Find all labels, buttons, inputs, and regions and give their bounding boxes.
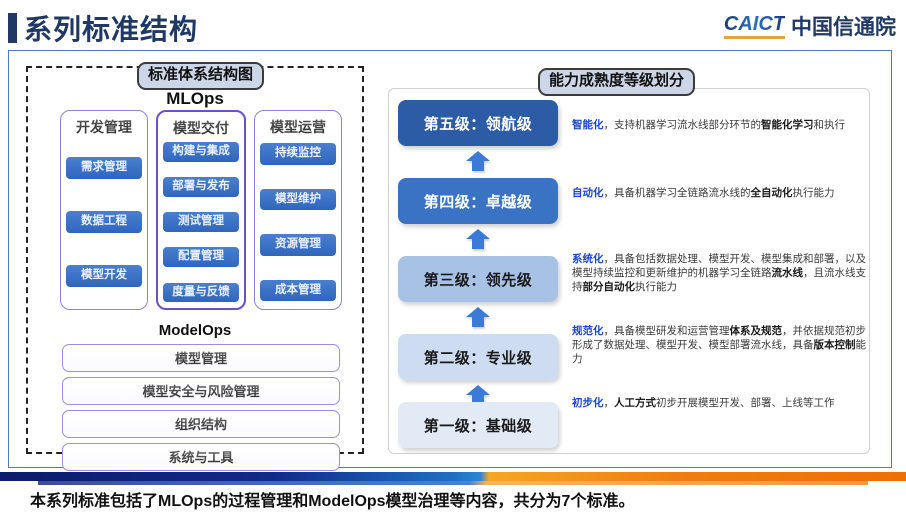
desc-text: ，具备模型研发和运营管理 <box>604 325 730 337</box>
title-accent-bar <box>8 13 17 43</box>
desc-keyword: 初步化 <box>572 397 604 409</box>
desc-text: 执行能力 <box>635 281 677 293</box>
mlops-chip[interactable]: 部署与发布 <box>163 177 239 197</box>
maturity-level-box-5[interactable]: 第五级：领航级 <box>398 100 558 146</box>
maturity-level-box-3[interactable]: 第三级：领先级 <box>398 256 558 302</box>
brand-abbr-text: CAICT <box>724 14 785 39</box>
mlops-chip-list: 持续监控模型维护资源管理成本管理 <box>260 141 336 303</box>
desc-keyword: 规范化 <box>572 325 604 337</box>
mlops-column-1: 开发管理需求管理数据工程模型开发 <box>60 110 148 310</box>
page-title: 系列标准结构 <box>24 8 198 48</box>
mlops-column-title: 模型交付 <box>173 118 229 138</box>
mlops-chip-list: 需求管理数据工程模型开发 <box>66 141 142 303</box>
footer-gradient-bar-inner <box>38 481 868 485</box>
modelops-row[interactable]: 组织结构 <box>62 410 340 438</box>
maturity-level-box-1[interactable]: 第一级：基础级 <box>398 402 558 448</box>
mlops-column-3: 模型运营持续监控模型维护资源管理成本管理 <box>254 110 342 310</box>
mlops-chip[interactable]: 持续监控 <box>260 143 336 165</box>
mlops-chip[interactable]: 构建与集成 <box>163 142 239 162</box>
maturity-level-box-2[interactable]: 第二级：专业级 <box>398 334 558 380</box>
desc-emphasis: 版本控制 <box>814 339 856 351</box>
desc-text: ， <box>604 397 615 409</box>
maturity-level-desc-4: 自动化，具备机器学习全链路流水线的全自动化执行能力 <box>572 186 872 200</box>
mlops-chip[interactable]: 需求管理 <box>66 157 142 179</box>
mlops-chip[interactable]: 配置管理 <box>163 247 239 267</box>
mlops-chip-list: 构建与集成部署与发布测试管理配置管理度量与反馈 <box>163 142 239 302</box>
desc-text: ，具备机器学习全链路流水线的 <box>604 187 751 199</box>
modelops-title: ModelOps <box>26 322 364 339</box>
maturity-level-boxes: 第五级：领航级第四级：卓越级第三级：领先级第二级：专业级第一级：基础级 <box>398 100 568 448</box>
maturity-level-desc-2: 规范化，具备模型研发和运营管理体系及规范，并依据规范初步形成了数据处理、模型开发… <box>572 324 872 367</box>
modelops-list: 模型管理模型安全与风险管理组织结构系统与工具 <box>62 344 340 476</box>
modelops-row-label: 模型管理 <box>175 351 227 366</box>
modelops-row-label: 模型安全与风险管理 <box>142 384 259 399</box>
desc-text: 和执行 <box>814 119 846 131</box>
mlops-column-title: 模型运营 <box>270 117 326 137</box>
modelops-row[interactable]: 模型安全与风险管理 <box>62 377 340 405</box>
desc-emphasis: 流水线 <box>772 267 804 279</box>
mlops-title: MLOps <box>26 89 364 109</box>
footer-summary-text: 本系列标准包括了MLOps的过程管理和ModelOps模型治理等内容，共分为7个… <box>30 487 890 511</box>
mlops-chip[interactable]: 度量与反馈 <box>163 283 239 303</box>
modelops-row-label: 组织结构 <box>175 417 227 432</box>
mlops-chip[interactable]: 模型开发 <box>66 265 142 287</box>
mlops-chip[interactable]: 模型维护 <box>260 189 336 211</box>
desc-emphasis: 全自动化 <box>751 187 793 199</box>
title-bar: 系列标准结构 CAICT 中国信通院 <box>0 10 906 46</box>
slide-root: 系列标准结构 CAICT 中国信通院 标准体系结构图 MLOps 开发管理需求管… <box>0 0 906 512</box>
maturity-level-desc-1: 初步化，人工方式初步开展模型开发、部署、上线等工作 <box>572 396 872 410</box>
desc-emphasis: 人工方式 <box>614 397 656 409</box>
desc-text: ，支持机器学习流水线部分环节的 <box>604 119 762 131</box>
desc-emphasis: 体系及规范 <box>730 325 783 337</box>
desc-keyword: 智能化 <box>572 119 604 131</box>
desc-text: 执行能力 <box>793 187 835 199</box>
mlops-column-2: 模型交付构建与集成部署与发布测试管理配置管理度量与反馈 <box>156 110 246 310</box>
maturity-level-box-4[interactable]: 第四级：卓越级 <box>398 178 558 224</box>
mlops-chip[interactable]: 数据工程 <box>66 211 142 233</box>
desc-emphasis: 部分自动化 <box>583 281 636 293</box>
mlops-columns: 开发管理需求管理数据工程模型开发模型交付构建与集成部署与发布测试管理配置管理度量… <box>60 110 342 310</box>
up-arrow-icon <box>464 228 492 250</box>
desc-keyword: 系统化 <box>572 253 604 265</box>
modelops-row[interactable]: 模型管理 <box>62 344 340 372</box>
standards-structure-badge: 标准体系结构图 <box>137 62 264 90</box>
brand-logo: CAICT 中国信通院 <box>724 14 896 39</box>
desc-keyword: 自动化 <box>572 187 604 199</box>
mlops-column-title: 开发管理 <box>76 117 132 137</box>
maturity-level-desc-3: 系统化，具备包括数据处理、模型开发、模型集成和部署，以及模型持续监控和更新维护的… <box>572 252 872 295</box>
desc-emphasis: 智能化学习 <box>761 119 814 131</box>
maturity-level-desc-5: 智能化，支持机器学习流水线部分环节的智能化学习和执行 <box>572 118 872 132</box>
up-arrow-icon <box>464 306 492 328</box>
footer-gradient-bar <box>0 472 906 481</box>
mlops-chip[interactable]: 资源管理 <box>260 234 336 256</box>
modelops-row-label: 系统与工具 <box>168 450 233 465</box>
up-arrow-icon <box>464 150 492 172</box>
desc-text: 初步开展模型开发、部署、上线等工作 <box>656 397 835 409</box>
brand-cn-text: 中国信通院 <box>791 17 896 39</box>
maturity-levels-badge: 能力成熟度等级划分 <box>538 68 695 96</box>
mlops-chip[interactable]: 测试管理 <box>163 212 239 232</box>
mlops-chip[interactable]: 成本管理 <box>260 280 336 302</box>
modelops-row[interactable]: 系统与工具 <box>62 443 340 471</box>
